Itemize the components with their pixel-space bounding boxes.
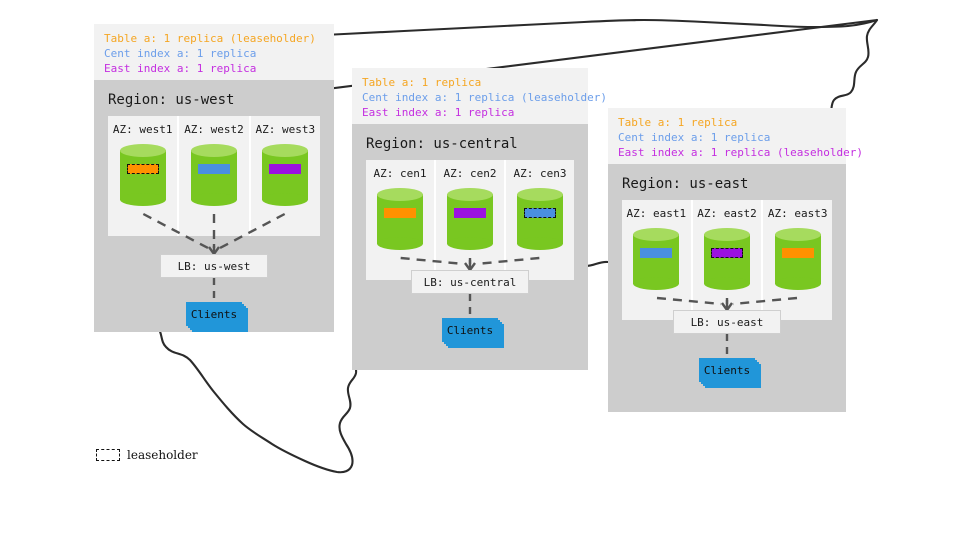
az-label: AZ: cen1 (366, 160, 434, 180)
az-label: AZ: west2 (179, 116, 248, 136)
replica-chip-leaseholder (711, 248, 743, 258)
database-cylinder-icon (191, 144, 237, 206)
diagram-canvas: Table a: 1 replica (leaseholder)Cent ind… (0, 0, 960, 540)
cylinder-top (262, 144, 308, 157)
clients-label: Clients (442, 318, 498, 342)
availability-zone-az-west3: AZ: west3 (251, 116, 320, 236)
az-label: AZ: cen3 (506, 160, 574, 180)
replica-line: Table a: 1 replica (362, 75, 578, 90)
az-label: AZ: west3 (251, 116, 320, 136)
replica-chip (384, 208, 416, 218)
replica-chip-leaseholder (524, 208, 556, 218)
az-label: AZ: east1 (622, 200, 691, 220)
database-cylinder-icon (447, 188, 493, 250)
database-cylinder-icon (517, 188, 563, 250)
database-cylinder-icon (262, 144, 308, 206)
az-label: AZ: east3 (763, 200, 832, 220)
replica-chip-leaseholder (127, 164, 159, 174)
cylinder-bottom (447, 237, 493, 250)
replica-chip (454, 208, 486, 218)
region-title: Region: us-east (608, 164, 846, 192)
cylinder-bottom (775, 277, 821, 290)
availability-zone-az-west2: AZ: west2 (179, 116, 250, 236)
availability-zone-az-west1: AZ: west1 (108, 116, 179, 236)
availability-zone-strip: AZ: west1AZ: west2AZ: west3 (108, 116, 320, 236)
load-balancer-box[interactable]: LB: us-central (411, 270, 529, 294)
load-balancer-box[interactable]: LB: us-east (673, 310, 781, 334)
region-body: Region: us-eastAZ: east1AZ: east2AZ: eas… (608, 164, 846, 412)
availability-zone-az-cen3: AZ: cen3 (506, 160, 574, 280)
cylinder-top (517, 188, 563, 201)
availability-zone-az-east1: AZ: east1 (622, 200, 693, 320)
cylinder-bottom (633, 277, 679, 290)
replica-summary-card: Table a: 1 replica (leaseholder)Cent ind… (94, 24, 334, 80)
replica-summary-card: Table a: 1 replicaCent index a: 1 replic… (352, 68, 588, 124)
database-cylinder-icon (377, 188, 423, 250)
replica-line: Cent index a: 1 replica (618, 130, 836, 145)
cylinder-bottom (704, 277, 750, 290)
legend-leaseholder-key: leaseholder (96, 448, 198, 462)
cylinder-top (447, 188, 493, 201)
legend-leaseholder-label: leaseholder (127, 448, 198, 462)
cylinder-bottom (262, 193, 308, 206)
region-body: Region: us-westAZ: west1AZ: west2AZ: wes… (94, 80, 334, 332)
cylinder-top (775, 228, 821, 241)
replica-chip (640, 248, 672, 258)
region-title: Region: us-west (94, 80, 334, 108)
replica-line: East index a: 1 replica (362, 105, 578, 120)
cylinder-top (377, 188, 423, 201)
availability-zone-strip: AZ: cen1AZ: cen2AZ: cen3 (366, 160, 574, 280)
az-label: AZ: cen2 (436, 160, 504, 180)
database-cylinder-icon (704, 228, 750, 290)
region-panel-us-central: Table a: 1 replicaCent index a: 1 replic… (352, 68, 588, 370)
availability-zone-az-cen1: AZ: cen1 (366, 160, 436, 280)
availability-zone-az-cen2: AZ: cen2 (436, 160, 506, 280)
az-label: AZ: east2 (693, 200, 762, 220)
cylinder-bottom (120, 193, 166, 206)
replica-summary-card: Table a: 1 replicaCent index a: 1 replic… (608, 108, 846, 164)
cylinder-bottom (377, 237, 423, 250)
replica-chip (269, 164, 301, 174)
replica-line: East index a: 1 replica (leaseholder) (618, 145, 836, 160)
clients-box[interactable]: Clients (699, 358, 761, 388)
clients-box[interactable]: Clients (442, 318, 504, 348)
replica-line: Cent index a: 1 replica (104, 46, 324, 61)
replica-line: Table a: 1 replica (618, 115, 836, 130)
replica-line: Cent index a: 1 replica (leaseholder) (362, 90, 578, 105)
cylinder-top (633, 228, 679, 241)
cylinder-top (191, 144, 237, 157)
cylinder-top (704, 228, 750, 241)
database-cylinder-icon (775, 228, 821, 290)
region-panel-us-east: Table a: 1 replicaCent index a: 1 replic… (608, 108, 846, 412)
availability-zone-az-east2: AZ: east2 (693, 200, 764, 320)
database-cylinder-icon (633, 228, 679, 290)
clients-label: Clients (186, 302, 242, 326)
cylinder-top (120, 144, 166, 157)
az-label: AZ: west1 (108, 116, 177, 136)
availability-zone-az-east3: AZ: east3 (763, 200, 832, 320)
region-panel-us-west: Table a: 1 replica (leaseholder)Cent ind… (94, 24, 334, 332)
replica-chip (198, 164, 230, 174)
load-balancer-box[interactable]: LB: us-west (160, 254, 268, 278)
region-body: Region: us-centralAZ: cen1AZ: cen2AZ: ce… (352, 124, 588, 370)
replica-line: Table a: 1 replica (leaseholder) (104, 31, 324, 46)
replica-line: East index a: 1 replica (104, 61, 324, 76)
clients-box[interactable]: Clients (186, 302, 248, 332)
dashed-rectangle-swatch-icon (96, 449, 120, 461)
database-cylinder-icon (120, 144, 166, 206)
replica-chip (782, 248, 814, 258)
clients-label: Clients (699, 358, 755, 382)
cylinder-bottom (191, 193, 237, 206)
region-title: Region: us-central (352, 124, 588, 152)
cylinder-bottom (517, 237, 563, 250)
availability-zone-strip: AZ: east1AZ: east2AZ: east3 (622, 200, 832, 320)
